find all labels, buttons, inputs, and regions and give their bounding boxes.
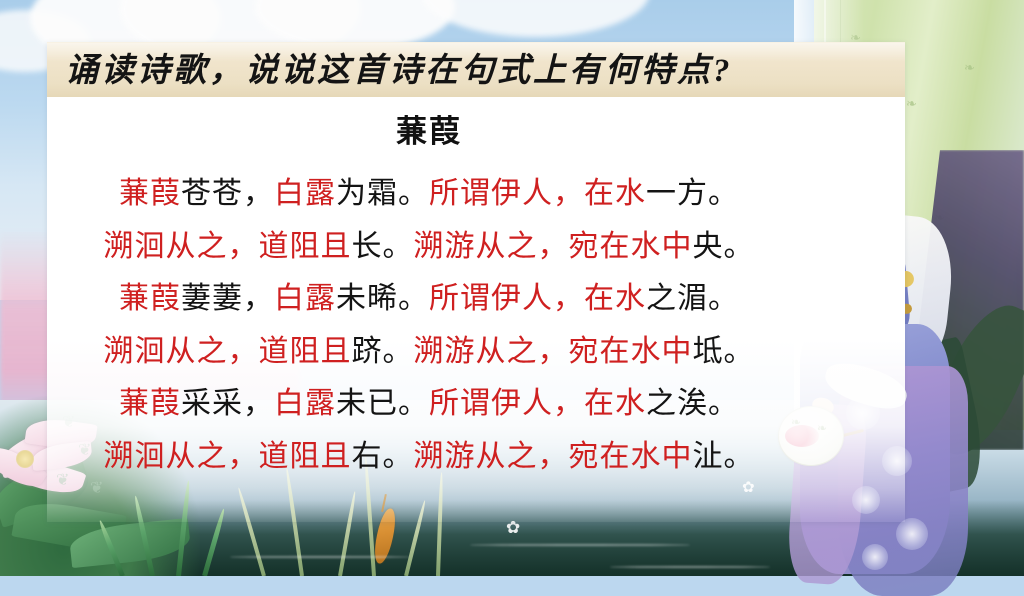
title-band: 诵读诗歌，说说这首诗在句式上有何特点? bbox=[47, 42, 905, 97]
poem-line: 蒹葭萋萋，白露未晞。所谓伊人，在水之湄。 bbox=[0, 273, 858, 326]
poem-line: 蒹葭采采，白露未已。所谓伊人，在水之涘。 bbox=[0, 378, 858, 431]
poem-segment-red: 蒹葭 bbox=[119, 386, 181, 421]
poem-segment-red: 所谓伊人， bbox=[429, 176, 584, 211]
poem-segment-red: 宛在水中 bbox=[569, 439, 693, 474]
poem-segment-red: 宛在水中 bbox=[569, 229, 693, 264]
poem-segment-red: 道阻且 bbox=[259, 229, 352, 264]
water-ripple bbox=[230, 556, 410, 558]
poem-segment-red: 溯洄从之， bbox=[104, 334, 259, 369]
poem-segment-black: 右。 bbox=[352, 439, 414, 474]
poem-segment-red: 蒹葭 bbox=[119, 281, 181, 316]
poem-segment-black: 未已。 bbox=[336, 386, 429, 421]
poem-segment-red: 溯洄从之， bbox=[104, 439, 259, 474]
poem-segment-red: 蒹葭 bbox=[119, 176, 181, 211]
poem-segment-red: 白露 bbox=[274, 176, 336, 211]
poem-segment-red: 道阻且 bbox=[259, 334, 352, 369]
poem-segment-black: 央。 bbox=[693, 229, 755, 264]
poem-segment-red: 所谓伊人， bbox=[429, 281, 584, 316]
poem-segment-black: 苍苍， bbox=[181, 176, 274, 211]
poem-segment-black: 坻。 bbox=[693, 334, 755, 369]
poem-segment-black: 采采， bbox=[181, 386, 274, 421]
poem-segment-black: 之湄。 bbox=[646, 281, 739, 316]
poem-segment-black: 未晞。 bbox=[336, 281, 429, 316]
poem-segment-red: 在水 bbox=[584, 176, 646, 211]
poem-segment-black: 之涘。 bbox=[646, 386, 739, 421]
poem-segment-red: 在水 bbox=[584, 281, 646, 316]
poem-segment-black: 萋萋， bbox=[181, 281, 274, 316]
robe-bloom bbox=[896, 518, 928, 550]
slide-title: 诵读诗歌，说说这首诗在句式上有何特点? bbox=[65, 47, 895, 95]
poem-segment-red: 白露 bbox=[274, 281, 336, 316]
poem-segment-red: 溯游从之， bbox=[414, 439, 569, 474]
poem-segment-red: 溯游从之， bbox=[414, 229, 569, 264]
poem-segment-black: 跻。 bbox=[352, 334, 414, 369]
poem-segment-red: 白露 bbox=[274, 386, 336, 421]
robe-bloom bbox=[862, 544, 888, 570]
poem-segment-black: 一方。 bbox=[646, 176, 739, 211]
water-ripple bbox=[470, 544, 690, 546]
poem-segment-red: 道阻且 bbox=[259, 439, 352, 474]
poem-title: 蒹葭 bbox=[0, 106, 858, 151]
poem-segment-black: 为霜。 bbox=[336, 176, 429, 211]
poem-segment-red: 宛在水中 bbox=[569, 334, 693, 369]
poem-segment-black: 沚。 bbox=[693, 439, 755, 474]
water-ripple bbox=[610, 566, 770, 568]
poem-line: 溯洄从之，道阻且长。溯游从之，宛在水中央。 bbox=[0, 221, 858, 274]
poem-line: 溯洄从之，道阻且跻。溯游从之，宛在水中坻。 bbox=[0, 326, 858, 379]
poem-segment-red: 所谓伊人， bbox=[429, 386, 584, 421]
poem-line: 蒹葭苍苍，白露为霜。所谓伊人，在水一方。 bbox=[0, 168, 858, 221]
poem-segment-red: 溯游从之， bbox=[414, 334, 569, 369]
poem-segment-red: 在水 bbox=[584, 386, 646, 421]
poem-segment-red: 溯洄从之， bbox=[104, 229, 259, 264]
poem-body: 蒹葭苍苍，白露为霜。所谓伊人，在水一方。溯洄从之，道阻且长。溯游从之，宛在水中央… bbox=[0, 168, 858, 483]
poem-segment-black: 长。 bbox=[352, 229, 414, 264]
poem-line: 溯洄从之，道阻且右。溯游从之，宛在水中沚。 bbox=[0, 431, 858, 484]
